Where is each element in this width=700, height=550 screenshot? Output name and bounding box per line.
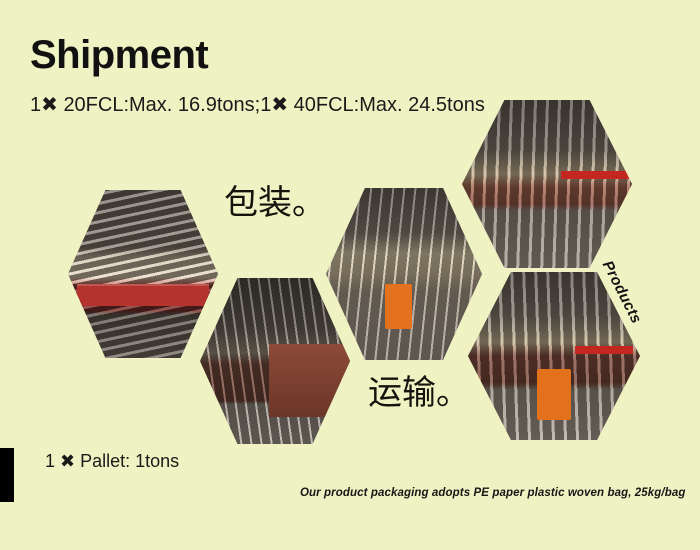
shipment-capacity-text: 1✖ 20FCL:Max. 16.9tons;1✖ 40FCL:Max. 24.…: [30, 93, 485, 118]
photo-image-4: [462, 100, 632, 268]
hex-photo-truck-loaded: [68, 190, 218, 358]
accent-bar: [0, 448, 14, 502]
hex-photo-container-truck-factory: [462, 100, 632, 268]
caption-transport: 运输。: [368, 376, 470, 410]
hex-photo-warehouse-forklift: [326, 188, 482, 360]
pallet-weight-text: 1 ✖ Pallet: 1tons: [45, 451, 179, 472]
shipment-slide: 包装。 运输。 Products Shipment 1✖ 20FCL:Max. …: [0, 0, 700, 550]
photo-image-1: [68, 190, 218, 358]
caption-packaging: 包装。: [224, 186, 326, 220]
photo-image-2: [200, 278, 350, 444]
photo-image-3: [326, 188, 482, 360]
hex-photo-warehouse-aisle: [200, 278, 350, 444]
packaging-footnote: Our product packaging adopts PE paper pl…: [300, 487, 685, 499]
page-title: Shipment: [30, 34, 208, 76]
